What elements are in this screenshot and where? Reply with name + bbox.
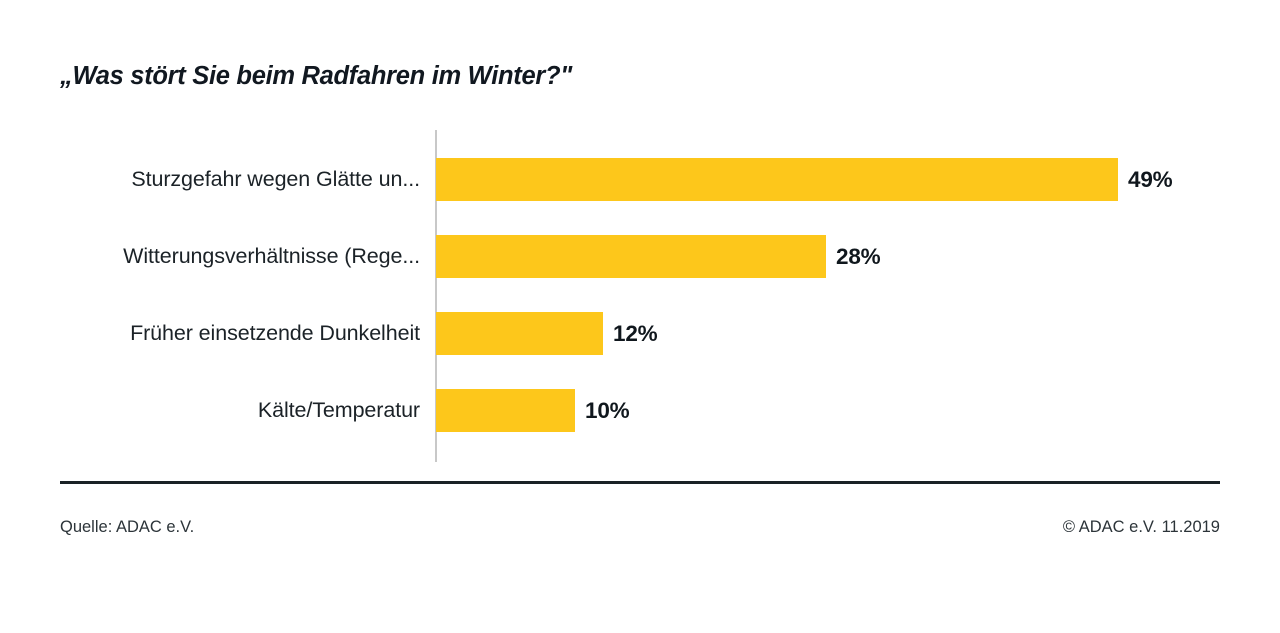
bar-row: Witterungsverhältnisse (Rege... 28% bbox=[0, 235, 1280, 278]
bar-segment bbox=[436, 389, 575, 432]
bar-series: Sturzgefahr wegen Glätte un... 49% Witte… bbox=[0, 128, 1280, 464]
infographic-chart: „Was stört Sie beim Radfahren im Winter?… bbox=[0, 0, 1280, 633]
category-label: Kälte/Temperatur bbox=[0, 389, 420, 432]
bar-track: 49% bbox=[436, 158, 1172, 201]
bar-track: 12% bbox=[436, 312, 657, 355]
plot-area: Sturzgefahr wegen Glätte un... 49% Witte… bbox=[0, 128, 1280, 464]
bar-segment bbox=[436, 158, 1118, 201]
bar-row: Früher einsetzende Dunkelheit 12% bbox=[0, 312, 1280, 355]
bar-row: Kälte/Temperatur 10% bbox=[0, 389, 1280, 432]
bar-track: 10% bbox=[436, 389, 629, 432]
bar-value-label: 12% bbox=[613, 321, 657, 347]
category-label: Sturzgefahr wegen Glätte un... bbox=[0, 158, 420, 201]
footer-divider bbox=[60, 481, 1220, 484]
chart-title: „Was stört Sie beim Radfahren im Winter?… bbox=[60, 62, 572, 91]
bar-value-label: 10% bbox=[585, 398, 629, 424]
copyright-note: © ADAC e.V. 11.2019 bbox=[1063, 518, 1220, 537]
bar-segment bbox=[436, 312, 603, 355]
category-label: Witterungsverhältnisse (Rege... bbox=[0, 235, 420, 278]
bar-value-label: 49% bbox=[1128, 167, 1172, 193]
category-label: Früher einsetzende Dunkelheit bbox=[0, 312, 420, 355]
bar-row: Sturzgefahr wegen Glätte un... 49% bbox=[0, 158, 1280, 201]
bar-value-label: 28% bbox=[836, 244, 880, 270]
bar-track: 28% bbox=[436, 235, 880, 278]
source-note: Quelle: ADAC e.V. bbox=[60, 518, 194, 537]
bar-segment bbox=[436, 235, 826, 278]
